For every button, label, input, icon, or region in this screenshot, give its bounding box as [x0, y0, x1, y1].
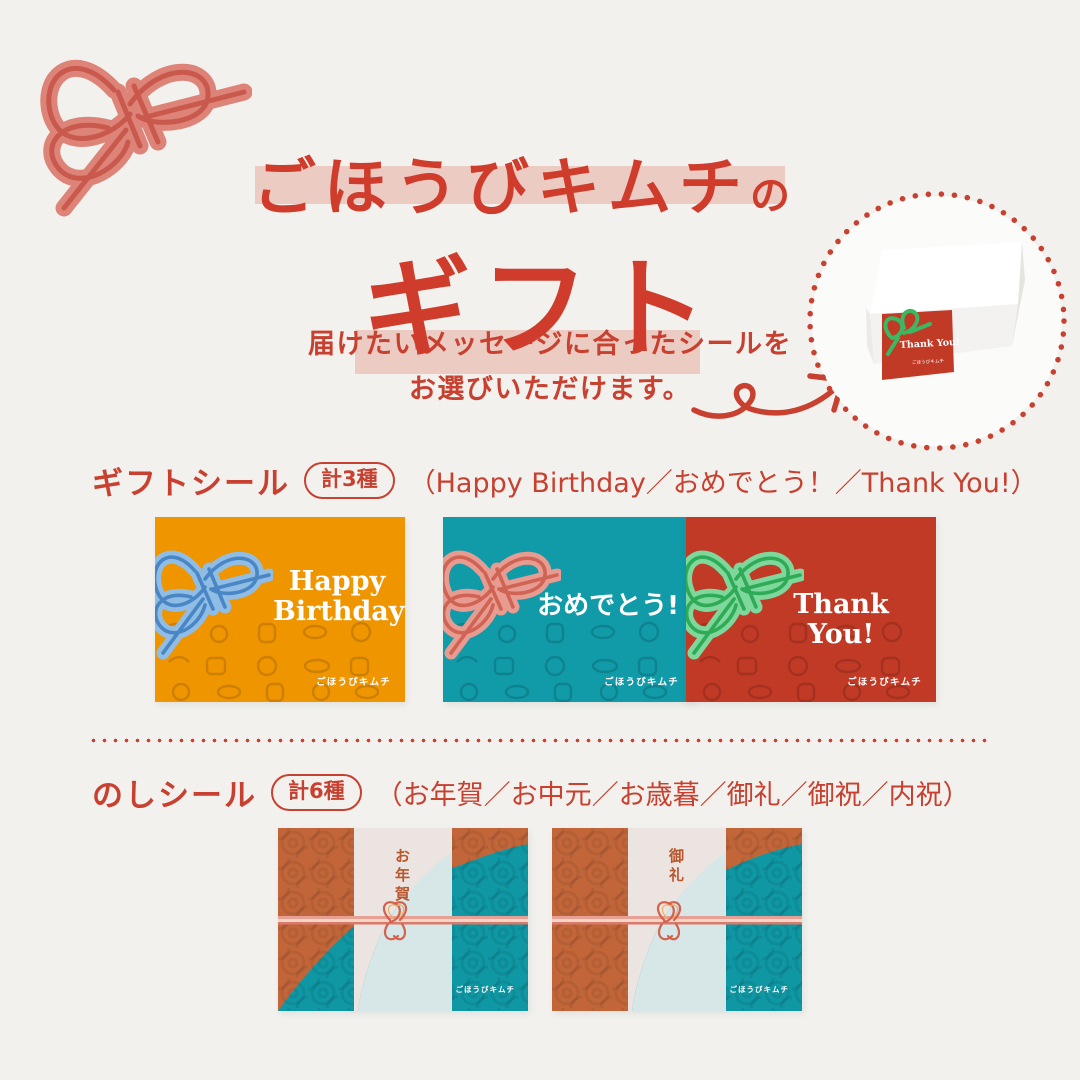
section-heading-gift-seal: ギフトシール 計3種 （Happy Birthday／おめでとう！／Thank … — [92, 458, 1038, 503]
title-particle: の — [750, 173, 790, 219]
section-title: のしシール — [92, 770, 257, 815]
count-badge: 計3種 — [304, 462, 395, 498]
noshi-seal-card-orei[interactable]: 御礼 ごほうびキムチ — [552, 828, 802, 1011]
section-heading-noshi-seal: のしシール 計6種 （お年賀／お中元／お歳暮／御礼／御祝／内祝） — [92, 770, 970, 815]
mizuhiki-bow-icon — [22, 18, 252, 218]
dotted-circle-border — [806, 190, 1068, 452]
bow-icon — [155, 523, 273, 663]
gift-seal-card-happy-birthday[interactable]: Happy Birthday! ごほうびキムチ — [155, 517, 405, 702]
seal-message-line-1: Thank You! — [758, 590, 924, 650]
noshi-seal-card-onenga[interactable]: お年賀 ごほうびキムチ — [278, 828, 528, 1011]
seal-brand: ごほうびキムチ — [316, 674, 391, 688]
gift-landing-page: ごほうびキムチの ギフト 届けたいメッセージに合ったシールを お選びいただけます… — [0, 0, 1080, 1080]
section-title: ギフトシール — [92, 458, 290, 503]
seal-message: Thank You! — [758, 590, 924, 650]
section-subtitle: （Happy Birthday／おめでとう！／Thank You!） — [409, 461, 1038, 500]
section-subtitle: （お年賀／お中元／お歳暮／御礼／御祝／内祝） — [376, 773, 970, 812]
title-line-1: ごほうびキムチの — [253, 156, 790, 219]
count-badge: 計6種 — [271, 774, 362, 810]
noshi-label: 御礼 — [668, 848, 686, 886]
title-brand-text: ごほうびキムチ — [253, 151, 750, 224]
seal-message: Happy Birthday! — [273, 567, 401, 627]
title-line-2: ギフト — [363, 256, 717, 364]
gift-seal-card-thank-you[interactable]: Thank You! ごほうびキムチ — [686, 517, 936, 702]
seal-message-line-2: Birthday! — [273, 597, 401, 627]
noshi-brand: ごほうびキムチ — [456, 984, 516, 995]
seal-brand: ごほうびキムチ — [604, 674, 679, 688]
section-divider — [88, 738, 992, 743]
noshi-label: お年賀 — [394, 848, 412, 905]
gift-seal-card-omedetou[interactable]: おめでとう! ごほうびキムチ — [443, 517, 693, 702]
seal-message: おめでとう! — [533, 592, 683, 621]
seal-brand: ごほうびキムチ — [847, 674, 922, 688]
seal-message-line-1: おめでとう! — [533, 592, 683, 621]
seal-message-line-1: Happy — [273, 567, 401, 597]
noshi-brand: ごほうびキムチ — [730, 984, 790, 995]
